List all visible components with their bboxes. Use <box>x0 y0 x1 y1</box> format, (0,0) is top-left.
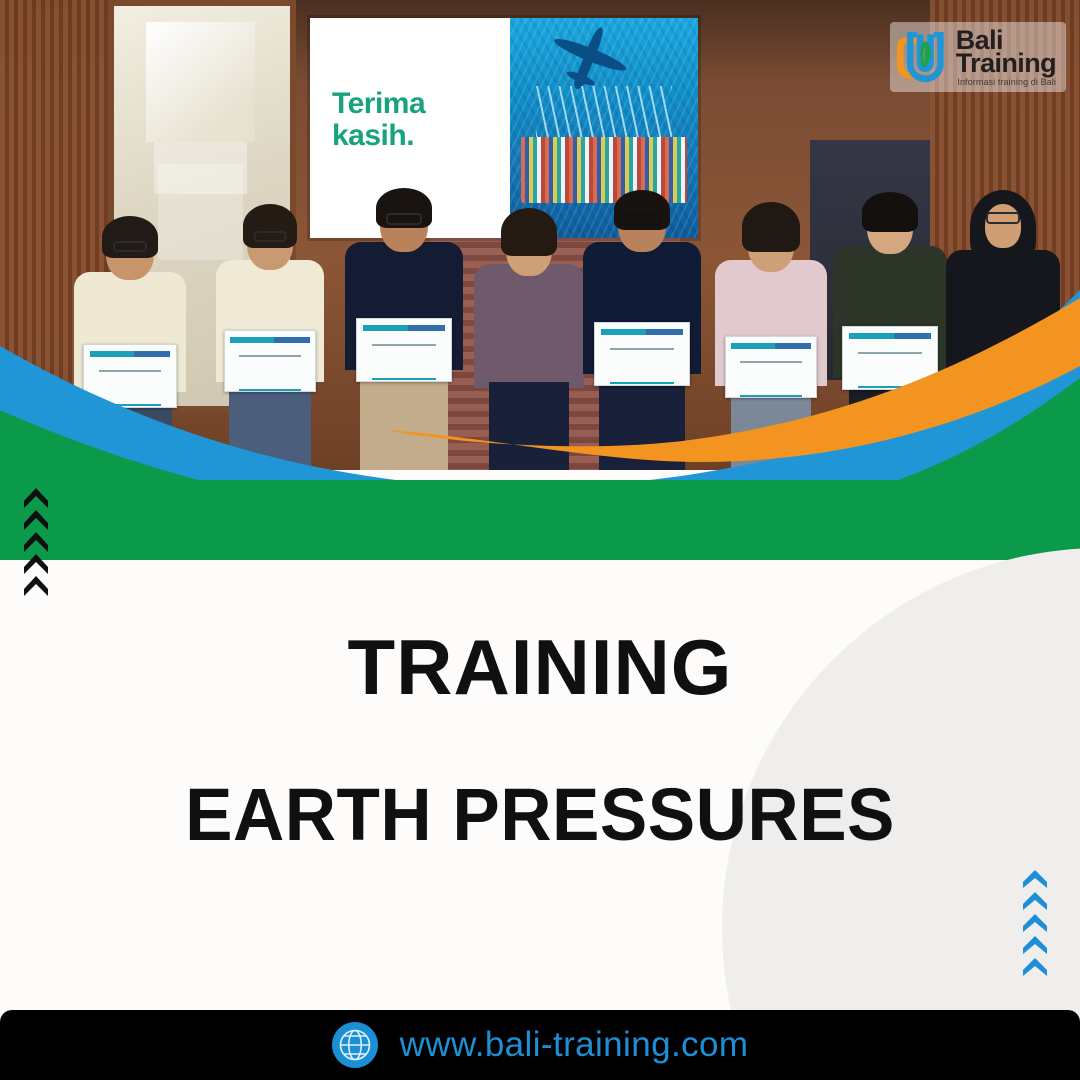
glasses-icon <box>386 213 422 225</box>
port-cranes <box>536 86 671 139</box>
footer-bar: www.bali-training.com <box>0 1010 1080 1080</box>
hair <box>742 202 800 252</box>
page-title: TRAINING <box>0 622 1080 713</box>
screen-text-line2: kasih. <box>332 120 507 152</box>
face <box>985 204 1021 248</box>
glasses-icon <box>986 212 1020 224</box>
chevron-up-icon <box>23 531 49 553</box>
logo-tagline: Informasi training di Bali <box>956 78 1056 86</box>
chevron-up-icon <box>1022 956 1048 978</box>
website-url[interactable]: www.bali-training.com <box>400 1025 749 1065</box>
screen-text-line1: Terima <box>332 87 425 120</box>
chevron-up-icon <box>1022 912 1048 934</box>
page-subtitle: EARTH PRESSURES <box>22 772 1059 857</box>
chevron-up-icon <box>23 509 49 531</box>
logo-line-2: Training <box>956 51 1056 76</box>
hair <box>862 192 918 232</box>
chevron-up-icon <box>1022 890 1048 912</box>
screen-thankyou-text: Terima kasih. <box>332 88 507 153</box>
wave-decoration <box>0 250 1080 560</box>
chevron-group-left <box>23 487 49 597</box>
chevron-up-icon <box>23 575 49 597</box>
poster-canvas: Terima kasih. <box>0 0 1080 1080</box>
brand-logo[interactable]: Bali Training Informasi training di Bali <box>890 22 1066 92</box>
green-band <box>0 480 1080 560</box>
globe-icon <box>332 1022 378 1068</box>
open-book-leaf-icon <box>896 32 948 82</box>
logo-wordmark: Bali Training Informasi training di Bali <box>956 28 1056 86</box>
chevron-up-icon <box>23 553 49 575</box>
chevron-group-right <box>1022 868 1048 978</box>
glasses-icon <box>254 231 287 242</box>
glasses-icon <box>623 213 661 226</box>
chevron-up-icon <box>1022 868 1048 890</box>
hair <box>501 208 557 256</box>
chevron-up-icon <box>23 487 49 509</box>
chevron-up-icon <box>1022 934 1048 956</box>
